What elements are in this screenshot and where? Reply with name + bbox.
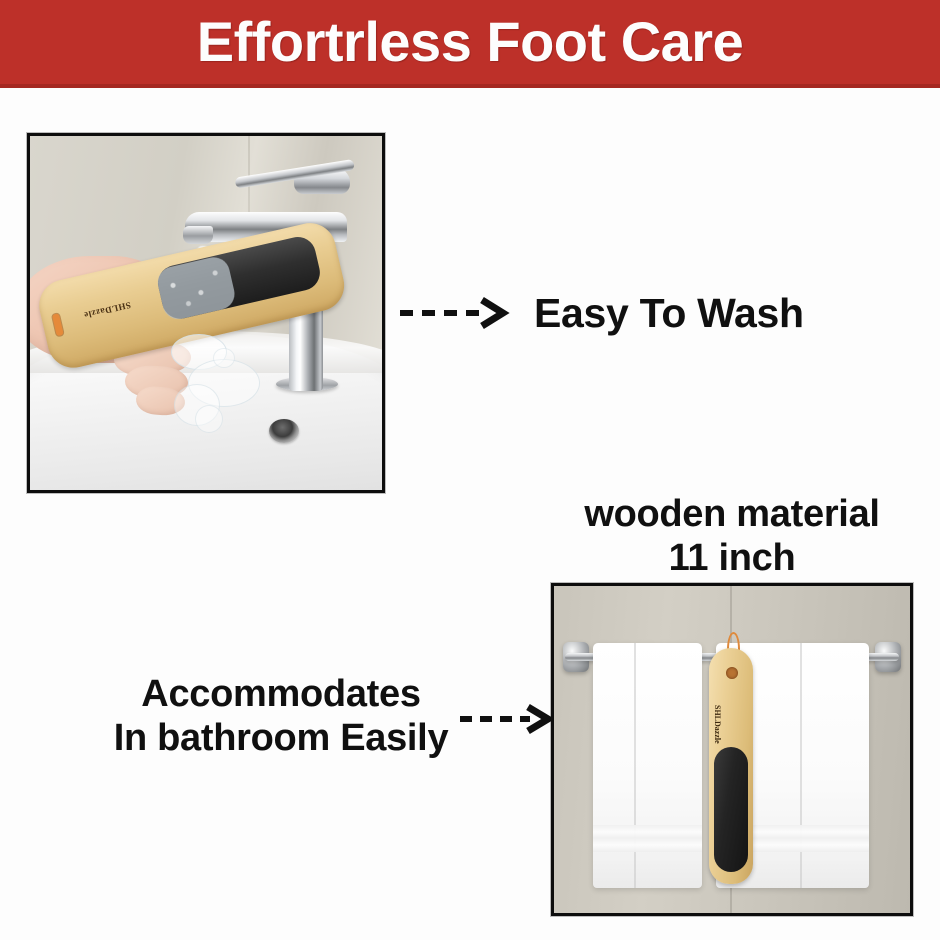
- foot-file-hang-hole: [726, 667, 738, 679]
- faucet-aerator: [183, 226, 213, 244]
- towel-photo-scene: SHLDazzle: [554, 586, 910, 913]
- towel-band: [593, 838, 702, 852]
- callout-easy-to-wash: Easy To Wash: [534, 290, 804, 338]
- infographic-page: Effortrless Foot Care: [0, 0, 940, 940]
- callout-wooden-material-line2: 11 inch: [551, 536, 913, 580]
- faucet-washing-photo: SHLDazzle: [27, 133, 385, 493]
- brand-mark: SHLDazzle: [713, 705, 722, 744]
- dashed-arrow-right-icon: [458, 702, 554, 741]
- page-title: Effortrless Foot Care: [0, 0, 940, 84]
- callout-accommodates-line1: Accommodates: [96, 672, 466, 716]
- foot-file-hanging: SHLDazzle: [709, 648, 754, 883]
- callout-wooden-material-line1: wooden material: [551, 492, 913, 536]
- callout-accommodates-line2: In bathroom Easily: [96, 716, 466, 760]
- header-banner: Effortrless Foot Care: [0, 0, 940, 88]
- foot-file-abrasive-pad: [714, 747, 748, 872]
- callout-accommodates: Accommodates In bathroom Easily: [96, 672, 466, 760]
- callout-wooden-material: wooden material 11 inch: [551, 492, 913, 580]
- towel-rail-photo: SHLDazzle: [551, 583, 913, 916]
- dashed-arrow-right-icon: [398, 296, 510, 335]
- towel: [593, 643, 702, 888]
- faucet-photo-scene: SHLDazzle: [30, 136, 382, 490]
